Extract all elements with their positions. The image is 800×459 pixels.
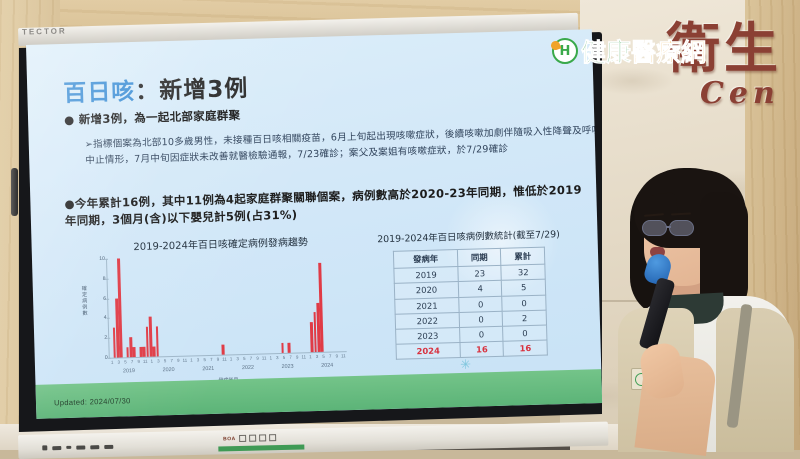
chart-bars — [107, 252, 347, 358]
port-row[interactable] — [42, 444, 113, 451]
glasses-lens-left — [642, 220, 667, 236]
table-header-cell: 發病年 — [393, 250, 457, 269]
table-cell: 0 — [502, 295, 546, 311]
chart-bar — [155, 327, 158, 357]
channel-watermark-logo: H 健康醫療網 — [552, 33, 706, 69]
hdmi2-port-icon[interactable] — [76, 445, 85, 449]
table-cell: 32 — [501, 264, 545, 280]
case-count-table-block: 2019-2024年百日咳病例數統計(截至7/29) 發病年同期累計 20192… — [353, 226, 587, 362]
table-cell: 0 — [460, 326, 504, 342]
table-cell: 0 — [459, 296, 503, 312]
chart-y-axis-label: 確定病例數 — [81, 285, 89, 316]
table-cell: 2021 — [395, 297, 459, 314]
title-highlight: 百日咳 — [63, 79, 136, 107]
chart-bar — [288, 343, 291, 353]
case-count-table: 發病年同期累計 20192332202045202100202202202300… — [393, 247, 548, 361]
hdmi-port-icon[interactable] — [52, 446, 61, 450]
glasses-lens-right — [669, 220, 694, 236]
green-label-sticker — [218, 445, 304, 452]
cert-mark-1-icon — [239, 435, 246, 442]
usb-port-icon[interactable] — [66, 446, 71, 449]
table-cell: 16 — [503, 340, 547, 356]
chart-bar — [149, 317, 153, 357]
snowflake-icon: ✳ — [460, 358, 473, 371]
device-brand-text: BOA — [223, 436, 236, 442]
tv-brand-label: TECTOR — [22, 26, 67, 36]
table-cell: 23 — [458, 266, 502, 282]
chart-plot-area: 0246810 — [106, 252, 347, 359]
hdmi3-port-icon[interactable] — [90, 445, 99, 449]
table-cell: 2 — [503, 310, 547, 326]
logo-text-orange: 醫療網 — [631, 38, 706, 67]
vga-port-icon[interactable] — [104, 444, 113, 448]
cert-mark-2-icon — [249, 435, 256, 442]
logo-letter: H — [560, 45, 571, 58]
page-title: 百日咳：新增3例 — [63, 69, 249, 108]
table-cell: 4 — [458, 281, 502, 297]
bullet-primary-1: ● 新增3例，為一起北部家庭群聚 — [64, 107, 241, 128]
table-cell: 16 — [460, 341, 504, 357]
heart-logo-icon: H — [552, 38, 578, 64]
table-cell: 0 — [503, 325, 547, 341]
chart-bar — [133, 347, 136, 357]
table-cell: 0 — [459, 311, 503, 327]
epidemic-trend-chart: 2019-2024年百日咳確定病例發病趨勢 確定病例數 0246810 1357… — [75, 232, 349, 389]
cert-mark-4-icon — [269, 434, 276, 441]
table-cell: 5 — [502, 279, 546, 295]
chart-bar — [222, 345, 225, 355]
chart-year-label: 2024 — [307, 362, 347, 369]
slide-surface: 百日咳：新增3例 ● 新增3例，為一起北部家庭群聚 ➢指標個案為北部10多歲男性… — [26, 29, 602, 419]
logo-wordmark: 健康醫療網 — [581, 33, 706, 69]
vest-right-panel — [716, 308, 794, 452]
speaker-person — [604, 168, 794, 450]
glasses-bridge — [666, 226, 671, 228]
chart-year-label: 2019 — [109, 368, 149, 375]
chart-year-label: 2021 — [188, 365, 228, 372]
device-label-group: BOA — [223, 434, 276, 442]
chart-x-year-labels: 201920202021202220232024 — [109, 362, 347, 375]
table-header-cell: 同期 — [457, 248, 501, 266]
logo-text-green: 健康 — [581, 38, 631, 67]
chart-month-tick: 11 — [340, 353, 347, 358]
chart-bar — [281, 343, 284, 353]
title-rest: ：新增3例 — [135, 76, 249, 105]
tv-side-button[interactable] — [11, 168, 18, 216]
chart-year-label: 2022 — [228, 364, 268, 371]
bullet-secondary: ➢指標個案為北部10多歲男性，未接種百日咳相關疫苗，6月上旬起出現咳嗽症狀，後續… — [85, 123, 603, 169]
display-screen[interactable]: TECTOR 百日咳：新增3例 ● 新增3例，為一起北部家庭群聚 ➢指標個案為北… — [8, 18, 608, 430]
chart-year-label: 2020 — [149, 367, 189, 374]
cert-mark-3-icon — [259, 434, 266, 441]
table-cell: 2020 — [394, 282, 458, 299]
table-cell: 2024 — [396, 343, 460, 360]
table-cell: 2022 — [395, 312, 459, 329]
chart-title: 2019-2024年百日咳確定病例發病趨勢 — [95, 232, 345, 254]
table-body: 2019233220204520210020220220230020241616 — [394, 264, 547, 359]
wall-sign-english: Cen — [700, 76, 780, 111]
chart-year-label: 2023 — [268, 363, 308, 370]
table-cell: 2019 — [394, 267, 458, 284]
table-title: 2019-2024年百日咳病例數統計(截至7/29) — [353, 226, 583, 246]
table-header-cell: 累計 — [501, 247, 545, 265]
table-cell: 2023 — [396, 327, 460, 344]
